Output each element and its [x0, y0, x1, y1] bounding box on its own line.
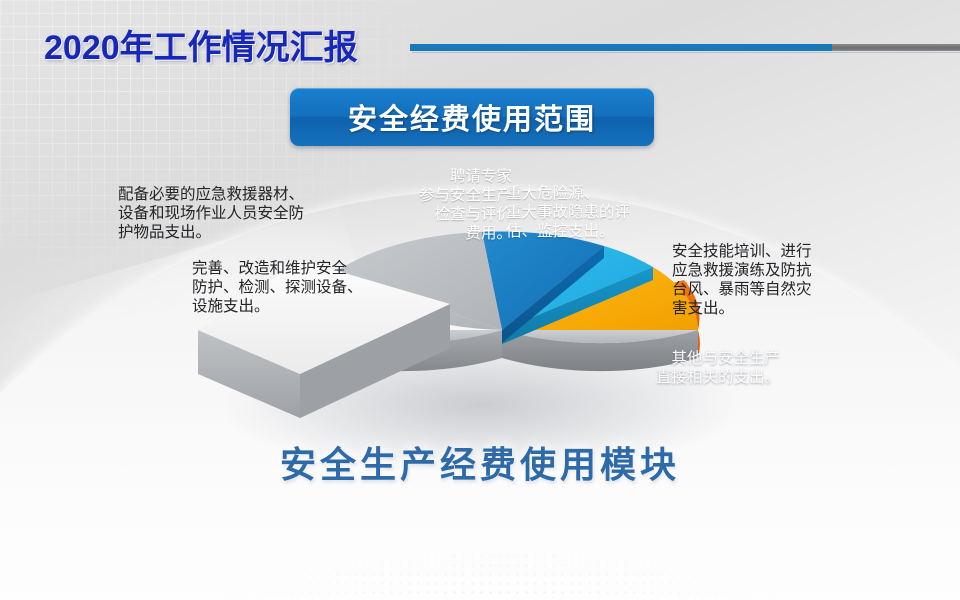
header-rule-blue	[410, 44, 834, 51]
section-banner-label: 安全经费使用范围	[348, 96, 596, 138]
background-dot-pattern	[90, 480, 910, 600]
callout-label-training: 安全技能培训、进行 应急救援演练及防抗 台风、暴雨等自然灾 害支出。	[672, 243, 852, 319]
header-hairline	[412, 52, 960, 53]
slide-canvas: 2020年工作情况汇报 安全经费使用范围	[0, 0, 960, 600]
header-rule-gray	[832, 44, 960, 51]
callout-label-other: 其他与安全生产 直接相关的支出。	[600, 350, 780, 388]
callout-label-equipment: 配备必要的应急救援器材、 设备和现场作业人员安全防 护物品支出。	[118, 186, 380, 243]
section-banner: 安全经费使用范围	[290, 88, 654, 146]
callout-label-maintain: 完善、改造和维护安全 防护、检测、探测设备、 设施支出。	[192, 260, 422, 317]
callout-label-expert: 聘请专家 参与安全生产 检查与评价 费用。	[380, 168, 512, 244]
callout-label-hazard: 重大危险源、 重大事故隐患的评 估、监控支出。	[506, 185, 674, 242]
page-title: 2020年工作情况汇报	[44, 20, 358, 69]
chart-caption: 安全生产经费使用模块	[0, 436, 960, 488]
